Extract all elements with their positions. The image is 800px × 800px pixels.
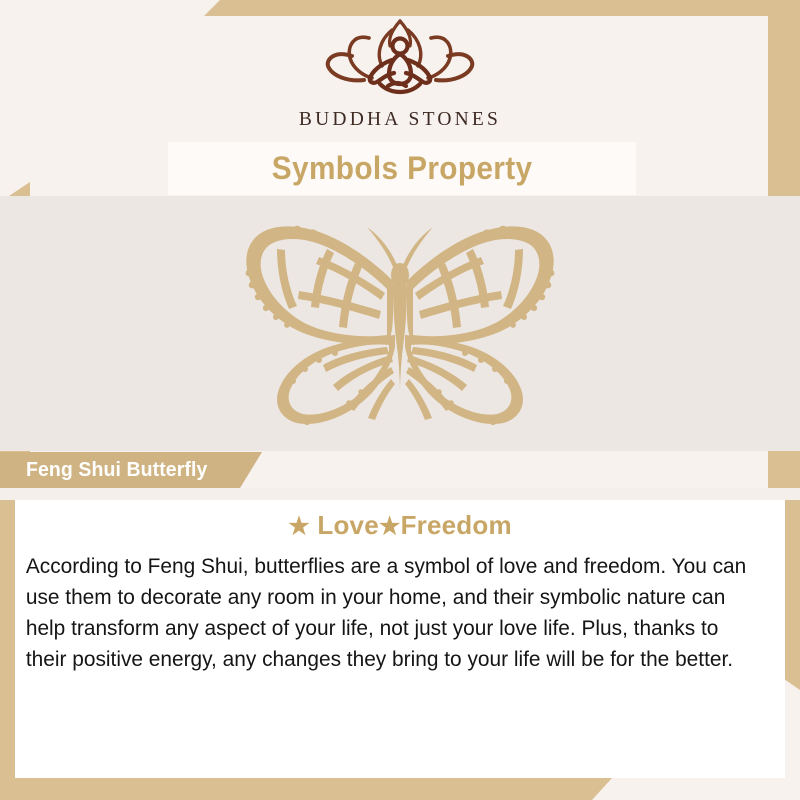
description-panel: ★ Love★Freedom According to Feng Shui, b… (15, 500, 785, 778)
brand-name: BUDDHA STONES (299, 109, 501, 131)
subheading: ★ Love★Freedom (15, 500, 785, 541)
butterfly-icon (215, 215, 585, 433)
page-title: Symbols Property (272, 150, 533, 187)
banner-understrip (0, 488, 800, 500)
subheading-word-love: Love (317, 510, 378, 540)
illustration-panel (0, 196, 800, 451)
feng-shui-butterfly-banner: Feng Shui Butterfly (0, 452, 262, 488)
poster-root: BUDDHA STONES Symbols Property (0, 0, 800, 800)
subheading-word-freedom: Freedom (401, 510, 512, 540)
gold-top-border (0, 0, 800, 16)
description-paragraph: According to Feng Shui, butterflies are … (15, 541, 773, 675)
star-middle-icon: ★ (379, 513, 401, 540)
gold-bottom-border (0, 778, 800, 800)
lotus-meditation-figure-icon (314, 16, 486, 108)
brand-header: BUDDHA STONES (0, 16, 800, 140)
banner-label: Feng Shui Butterfly (26, 458, 207, 482)
star-left-icon: ★ (288, 513, 310, 540)
title-bar: Symbols Property (168, 142, 636, 195)
